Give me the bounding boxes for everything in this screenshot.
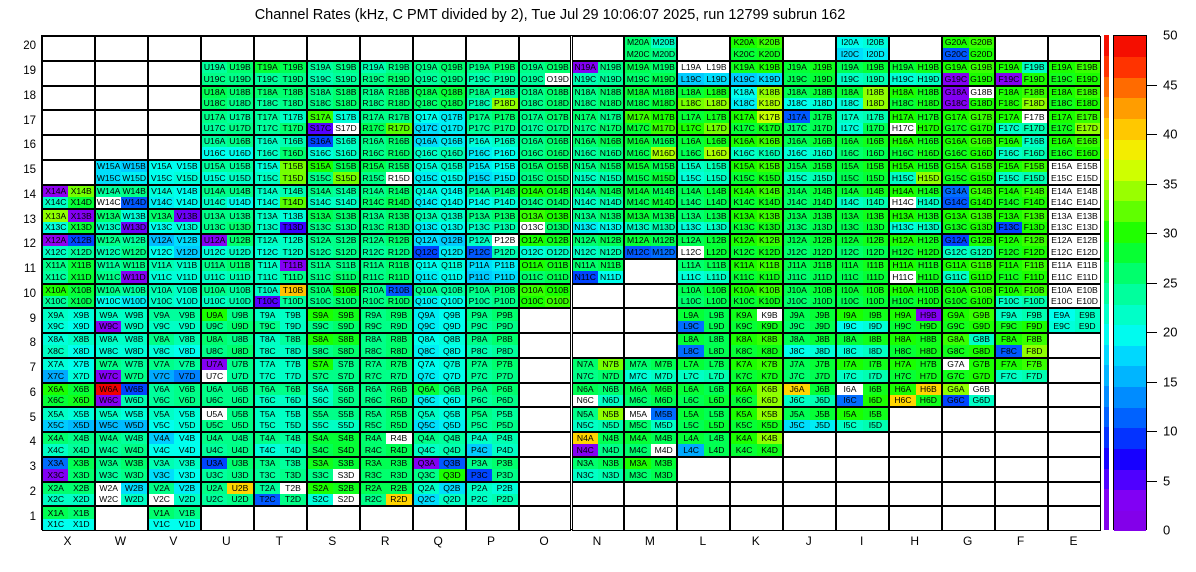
heatmap-channel-L18D[interactable]: L18D	[704, 98, 729, 109]
heatmap-tile-N5[interactable]: N5AN5BN5CN5D	[572, 407, 625, 432]
heatmap-channel-W5D[interactable]: W5D	[121, 420, 146, 431]
heatmap-channel-W13D[interactable]: W13D	[121, 222, 146, 233]
heatmap-tile-M17[interactable]: M17AM17BM17CM17D	[624, 110, 677, 135]
heatmap-channel-L12A[interactable]: L12A	[678, 235, 703, 246]
heatmap-channel-N17A[interactable]: N17A	[573, 111, 598, 122]
heatmap-tile-H5[interactable]	[889, 407, 942, 432]
heatmap-tile-T14[interactable]: T14AT14BT14CT14D	[254, 185, 307, 210]
heatmap-channel-R7D[interactable]: R7D	[386, 370, 411, 381]
heatmap-tile-R11[interactable]: R11AR11BR11CR11D	[360, 259, 413, 284]
heatmap-tile-L20[interactable]	[677, 36, 730, 61]
heatmap-tile-M4[interactable]: M4AM4BM4CM4D	[624, 432, 677, 457]
heatmap-tile-U10[interactable]: U10AU10BU10CU10D	[201, 284, 254, 309]
heatmap-tile-U4[interactable]: U4AU4BU4CU4D	[201, 432, 254, 457]
heatmap-channel-T10A[interactable]: T10A	[255, 285, 280, 296]
heatmap-channel-R6B[interactable]: R6B	[386, 384, 411, 395]
heatmap-channel-Q9D[interactable]: Q9D	[439, 321, 464, 332]
heatmap-tile-R8[interactable]: R8AR8BR8CR8D	[360, 333, 413, 358]
heatmap-channel-J11A[interactable]: J11A	[784, 260, 809, 271]
heatmap-channel-K12B[interactable]: K12B	[757, 235, 782, 246]
heatmap-tile-X3[interactable]: X3AX3BX3CX3D	[42, 457, 95, 482]
heatmap-tile-Q14[interactable]: Q14AQ14BQ14CQ14D	[413, 185, 466, 210]
heatmap-channel-N19B[interactable]: N19B	[598, 62, 623, 73]
heatmap-channel-E13A[interactable]: E13A	[1049, 210, 1074, 221]
heatmap-tile-L18[interactable]: L18AL18BL18CL18D	[677, 86, 730, 111]
heatmap-channel-Q7C[interactable]: Q7C	[414, 370, 439, 381]
heatmap-tile-W1[interactable]	[95, 506, 148, 531]
heatmap-channel-N16D[interactable]: N16D	[598, 147, 623, 158]
heatmap-channel-T15C[interactable]: T15C	[255, 172, 280, 183]
heatmap-channel-U3D[interactable]: U3D	[227, 469, 252, 480]
heatmap-channel-H7A[interactable]: H7A	[890, 359, 915, 370]
heatmap-tile-K20[interactable]: K20AK20BK20CK20D	[730, 36, 783, 61]
heatmap-channel-F14D[interactable]: F14D	[1022, 197, 1047, 208]
heatmap-tile-N8[interactable]	[572, 333, 625, 358]
heatmap-channel-R16A[interactable]: R16A	[361, 136, 386, 147]
heatmap-channel-V4A[interactable]: V4A	[149, 433, 174, 444]
heatmap-channel-Q2A[interactable]: Q2A	[414, 483, 439, 494]
heatmap-tile-W17[interactable]	[95, 110, 148, 135]
heatmap-tile-F12[interactable]: F12AF12BF12CF12D	[995, 234, 1048, 259]
heatmap-channel-R10B[interactable]: R10B	[386, 285, 411, 296]
heatmap-channel-T13B[interactable]: T13B	[280, 210, 305, 221]
heatmap-channel-V7D[interactable]: V7D	[174, 370, 199, 381]
heatmap-tile-F8[interactable]: F8AF8BF8CF8D	[995, 333, 1048, 358]
heatmap-tile-Q11[interactable]: Q11AQ11BQ11CQ11D	[413, 259, 466, 284]
heatmap-channel-V15A[interactable]: V15A	[149, 161, 174, 172]
heatmap-tile-H13[interactable]: H13AH13BH13CH13D	[889, 209, 942, 234]
heatmap-channel-R9C[interactable]: R9C	[361, 321, 386, 332]
heatmap-tile-I15[interactable]: I15AI15BI15CI15D	[836, 160, 889, 185]
heatmap-tile-L2[interactable]	[677, 482, 730, 507]
heatmap-channel-J9B[interactable]: J9B	[810, 309, 835, 320]
heatmap-channel-X7C[interactable]: X7C	[43, 370, 68, 381]
heatmap-channel-O16D[interactable]: O16D	[545, 147, 570, 158]
heatmap-channel-X14A[interactable]: X14A	[43, 186, 68, 197]
heatmap-channel-X7D[interactable]: X7D	[68, 370, 93, 381]
heatmap-tile-T19[interactable]: T19AT19BT19CT19D	[254, 61, 307, 86]
heatmap-channel-U19A[interactable]: U19A	[202, 62, 227, 73]
heatmap-channel-L7D[interactable]: L7D	[704, 370, 729, 381]
heatmap-channel-L4A[interactable]: L4A	[678, 433, 703, 444]
heatmap-tile-J11[interactable]: J11AJ11BJ11CJ11D	[783, 259, 836, 284]
heatmap-channel-N19D[interactable]: N19D	[598, 73, 623, 84]
heatmap-tile-E5[interactable]	[1048, 407, 1101, 432]
heatmap-channel-N11A[interactable]: N11A	[573, 260, 598, 271]
heatmap-channel-T11A[interactable]: T11A	[255, 260, 280, 271]
heatmap-channel-S7C[interactable]: S7C	[308, 370, 333, 381]
heatmap-channel-N19A[interactable]: N19A	[573, 62, 598, 73]
heatmap-tile-Q2[interactable]: Q2AQ2BQ2CQ2D	[413, 482, 466, 507]
heatmap-channel-M15D[interactable]: M15D	[651, 172, 676, 183]
heatmap-tile-M6[interactable]: M6AM6BM6CM6D	[624, 383, 677, 408]
heatmap-channel-X13D[interactable]: X13D	[68, 222, 93, 233]
heatmap-channel-L6B[interactable]: L6B	[704, 384, 729, 395]
heatmap-tile-R13[interactable]: R13AR13BR13CR13D	[360, 209, 413, 234]
heatmap-channel-U15D[interactable]: U15D	[227, 172, 252, 183]
heatmap-tile-G16[interactable]: G16AG16BG16CG16D	[942, 135, 995, 160]
heatmap-channel-P6C[interactable]: P6C	[467, 395, 492, 406]
heatmap-channel-F7C[interactable]: F7C	[996, 370, 1021, 381]
heatmap-tile-P9[interactable]: P9AP9BP9CP9D	[466, 308, 519, 333]
heatmap-channel-V7A[interactable]: V7A	[149, 359, 174, 370]
heatmap-tile-J9[interactable]: J9AJ9BJ9CJ9D	[783, 308, 836, 333]
heatmap-channel-G16B[interactable]: G16B	[969, 136, 994, 147]
heatmap-channel-H16C[interactable]: H16C	[890, 147, 915, 158]
heatmap-channel-R7A[interactable]: R7A	[361, 359, 386, 370]
heatmap-channel-G17C[interactable]: G17C	[943, 123, 968, 134]
heatmap-channel-G20B[interactable]: G20B	[969, 37, 994, 48]
heatmap-channel-S4A[interactable]: S4A	[308, 433, 333, 444]
heatmap-tile-N7[interactable]: N7AN7BN7CN7D	[572, 358, 625, 383]
heatmap-channel-S3D[interactable]: S3D	[333, 469, 358, 480]
heatmap-channel-J11D[interactable]: J11D	[810, 271, 835, 282]
heatmap-channel-S15D[interactable]: S15D	[333, 172, 358, 183]
heatmap-channel-T10B[interactable]: T10B	[280, 285, 305, 296]
heatmap-tile-W14[interactable]: W14AW14BW14CW14D	[95, 185, 148, 210]
heatmap-channel-R7C[interactable]: R7C	[361, 370, 386, 381]
heatmap-channel-X11A[interactable]: X11A	[43, 260, 68, 271]
heatmap-channel-J13C[interactable]: J13C	[784, 222, 809, 233]
heatmap-tile-S5[interactable]: S5AS5BS5CS5D	[307, 407, 360, 432]
heatmap-channel-Q18B[interactable]: Q18B	[439, 87, 464, 98]
heatmap-channel-P14A[interactable]: P14A	[467, 186, 492, 197]
heatmap-channel-S12D[interactable]: S12D	[333, 246, 358, 257]
heatmap-tile-M12[interactable]: M12AM12BM12CM12D	[624, 234, 677, 259]
heatmap-tile-E6[interactable]	[1048, 383, 1101, 408]
heatmap-channel-T7A[interactable]: T7A	[255, 359, 280, 370]
heatmap-channel-M12C[interactable]: M12C	[625, 246, 650, 257]
heatmap-channel-P13B[interactable]: P13B	[492, 210, 517, 221]
heatmap-channel-F8B[interactable]: F8B	[1022, 334, 1047, 345]
heatmap-channel-N15B[interactable]: N15B	[598, 161, 623, 172]
heatmap-tile-H4[interactable]	[889, 432, 942, 457]
heatmap-channel-S19D[interactable]: S19D	[333, 73, 358, 84]
heatmap-tile-J1[interactable]	[783, 506, 836, 531]
heatmap-channel-P7D[interactable]: P7D	[492, 370, 517, 381]
heatmap-tile-R19[interactable]: R19AR19BR19CR19D	[360, 61, 413, 86]
heatmap-channel-J5C[interactable]: J5C	[784, 420, 809, 431]
heatmap-channel-R14C[interactable]: R14C	[361, 197, 386, 208]
heatmap-channel-E12D[interactable]: E12D	[1075, 246, 1100, 257]
heatmap-tile-P7[interactable]: P7AP7BP7CP7D	[466, 358, 519, 383]
heatmap-tile-O20[interactable]	[519, 36, 572, 61]
heatmap-channel-V13B[interactable]: V13B	[174, 210, 199, 221]
heatmap-channel-M14A[interactable]: M14A	[625, 186, 650, 197]
heatmap-channel-N3B[interactable]: N3B	[598, 458, 623, 469]
heatmap-channel-U8C[interactable]: U8C	[202, 345, 227, 356]
heatmap-channel-P8B[interactable]: P8B	[492, 334, 517, 345]
heatmap-channel-E14C[interactable]: E14C	[1049, 197, 1074, 208]
heatmap-channel-K8C[interactable]: K8C	[731, 345, 756, 356]
heatmap-channel-W13B[interactable]: W13B	[121, 210, 146, 221]
heatmap-channel-P11D[interactable]: P11D	[492, 271, 517, 282]
heatmap-channel-S15B[interactable]: S15B	[333, 161, 358, 172]
heatmap-channel-T18A[interactable]: T18A	[255, 87, 280, 98]
heatmap-channel-L8D[interactable]: L8D	[704, 345, 729, 356]
heatmap-channel-M17A[interactable]: M17A	[625, 111, 650, 122]
heatmap-channel-Q12B[interactable]: Q12B	[439, 235, 464, 246]
heatmap-channel-R5D[interactable]: R5D	[386, 420, 411, 431]
heatmap-channel-S18C[interactable]: S18C	[308, 98, 333, 109]
heatmap-tile-Q17[interactable]: Q17AQ17BQ17CQ17D	[413, 110, 466, 135]
heatmap-channel-G14A[interactable]: G14A	[943, 186, 968, 197]
heatmap-channel-F10A[interactable]: F10A	[996, 285, 1021, 296]
heatmap-channel-G6D[interactable]: G6D	[969, 395, 994, 406]
heatmap-channel-F12B[interactable]: F12B	[1022, 235, 1047, 246]
heatmap-channel-Q10B[interactable]: Q10B	[439, 285, 464, 296]
heatmap-channel-J8C[interactable]: J8C	[784, 345, 809, 356]
heatmap-channel-X6B[interactable]: X6B	[68, 384, 93, 395]
heatmap-channel-I9D[interactable]: I9D	[863, 321, 888, 332]
heatmap-channel-R15A[interactable]: R15A	[361, 161, 386, 172]
heatmap-channel-N4B[interactable]: N4B	[598, 433, 623, 444]
heatmap-channel-K12D[interactable]: K12D	[757, 246, 782, 257]
heatmap-channel-G12A[interactable]: G12A	[943, 235, 968, 246]
heatmap-tile-G5[interactable]	[942, 407, 995, 432]
heatmap-channel-H7D[interactable]: H7D	[916, 370, 941, 381]
heatmap-channel-M18C[interactable]: M18C	[625, 98, 650, 109]
heatmap-channel-I15D[interactable]: I15D	[863, 172, 888, 183]
heatmap-channel-T3C[interactable]: T3C	[255, 469, 280, 480]
heatmap-channel-H14B[interactable]: H14B	[916, 186, 941, 197]
heatmap-channel-G11C[interactable]: G11C	[943, 271, 968, 282]
heatmap-channel-M6A[interactable]: M6A	[625, 384, 650, 395]
heatmap-tile-X16[interactable]	[42, 135, 95, 160]
heatmap-channel-Q7B[interactable]: Q7B	[439, 359, 464, 370]
heatmap-channel-I11B[interactable]: I11B	[863, 260, 888, 271]
heatmap-channel-R3A[interactable]: R3A	[361, 458, 386, 469]
heatmap-channel-Q16D[interactable]: Q16D	[439, 147, 464, 158]
heatmap-channel-Q19A[interactable]: Q19A	[414, 62, 439, 73]
heatmap-channel-V10B[interactable]: V10B	[174, 285, 199, 296]
heatmap-channel-S17B[interactable]: S17B	[333, 111, 358, 122]
heatmap-channel-P2D[interactable]: P2D	[492, 494, 517, 505]
heatmap-channel-J6B[interactable]: J6B	[810, 384, 835, 395]
heatmap-channel-H16A[interactable]: H16A	[890, 136, 915, 147]
heatmap-channel-H6B[interactable]: H6B	[916, 384, 941, 395]
heatmap-channel-E14D[interactable]: E14D	[1075, 197, 1100, 208]
heatmap-channel-V15C[interactable]: V15C	[149, 172, 174, 183]
heatmap-channel-T15A[interactable]: T15A	[255, 161, 280, 172]
heatmap-channel-P7C[interactable]: P7C	[467, 370, 492, 381]
heatmap-channel-G6C[interactable]: G6C	[943, 395, 968, 406]
heatmap-channel-K14C[interactable]: K14C	[731, 197, 756, 208]
heatmap-tile-L7[interactable]: L7AL7BL7CL7D	[677, 358, 730, 383]
heatmap-tile-Q13[interactable]: Q13AQ13BQ13CQ13D	[413, 209, 466, 234]
heatmap-channel-U18D[interactable]: U18D	[227, 98, 252, 109]
heatmap-channel-Q4A[interactable]: Q4A	[414, 433, 439, 444]
heatmap-channel-R7B[interactable]: R7B	[386, 359, 411, 370]
heatmap-channel-M3C[interactable]: M3C	[625, 469, 650, 480]
heatmap-tile-H10[interactable]: H10AH10BH10CH10D	[889, 284, 942, 309]
heatmap-channel-S5D[interactable]: S5D	[333, 420, 358, 431]
heatmap-channel-Q16C[interactable]: Q16C	[414, 147, 439, 158]
heatmap-channel-T9C[interactable]: T9C	[255, 321, 280, 332]
heatmap-channel-X6C[interactable]: X6C	[43, 395, 68, 406]
heatmap-channel-R17D[interactable]: R17D	[386, 123, 411, 134]
heatmap-tile-M11[interactable]	[624, 259, 677, 284]
heatmap-channel-I15B[interactable]: I15B	[863, 161, 888, 172]
heatmap-channel-P5D[interactable]: P5D	[492, 420, 517, 431]
heatmap-channel-P11C[interactable]: P11C	[467, 271, 492, 282]
heatmap-channel-T10D[interactable]: T10D	[280, 296, 305, 307]
heatmap-tile-E13[interactable]: E13AE13BE13CE13D	[1048, 209, 1101, 234]
heatmap-tile-M15[interactable]: M15AM15BM15CM15D	[624, 160, 677, 185]
heatmap-channel-F17A[interactable]: F17A	[996, 111, 1021, 122]
heatmap-tile-J10[interactable]: J10AJ10BJ10CJ10D	[783, 284, 836, 309]
heatmap-channel-G10A[interactable]: G10A	[943, 285, 968, 296]
heatmap-channel-S16A[interactable]: S16A	[308, 136, 333, 147]
heatmap-tile-M2[interactable]	[624, 482, 677, 507]
heatmap-channel-G13B[interactable]: G13B	[969, 210, 994, 221]
heatmap-channel-L9A[interactable]: L9A	[678, 309, 703, 320]
heatmap-channel-S15A[interactable]: S15A	[308, 161, 333, 172]
heatmap-channel-W10B[interactable]: W10B	[121, 285, 146, 296]
heatmap-channel-X9A[interactable]: X9A	[43, 309, 68, 320]
heatmap-channel-N18B[interactable]: N18B	[598, 87, 623, 98]
heatmap-tile-L14[interactable]: L14AL14BL14CL14D	[677, 185, 730, 210]
heatmap-channel-T3B[interactable]: T3B	[280, 458, 305, 469]
heatmap-channel-T19A[interactable]: T19A	[255, 62, 280, 73]
heatmap-channel-L15A[interactable]: L15A	[678, 161, 703, 172]
heatmap-channel-R2B[interactable]: R2B	[386, 483, 411, 494]
heatmap-channel-N3A[interactable]: N3A	[573, 458, 598, 469]
heatmap-channel-L5D[interactable]: L5D	[704, 420, 729, 431]
heatmap-channel-J10B[interactable]: J10B	[810, 285, 835, 296]
heatmap-channel-K7A[interactable]: K7A	[731, 359, 756, 370]
heatmap-tile-I11[interactable]: I11AI11BI11CI11D	[836, 259, 889, 284]
heatmap-channel-Q11C[interactable]: Q11C	[414, 271, 439, 282]
heatmap-channel-P3B[interactable]: P3B	[492, 458, 517, 469]
heatmap-channel-S6B[interactable]: S6B	[333, 384, 358, 395]
heatmap-channel-K16D[interactable]: K16D	[757, 147, 782, 158]
heatmap-channel-L11D[interactable]: L11D	[704, 271, 729, 282]
heatmap-channel-W15A[interactable]: W15A	[96, 161, 121, 172]
heatmap-channel-L7A[interactable]: L7A	[678, 359, 703, 370]
heatmap-channel-L14B[interactable]: L14B	[704, 186, 729, 197]
heatmap-tile-E8[interactable]	[1048, 333, 1101, 358]
heatmap-channel-P12A[interactable]: P12A	[467, 235, 492, 246]
heatmap-tile-V7[interactable]: V7AV7BV7CV7D	[148, 358, 201, 383]
heatmap-channel-U19C[interactable]: U19C	[202, 73, 227, 84]
heatmap-channel-E10D[interactable]: E10D	[1075, 296, 1100, 307]
heatmap-tile-G12[interactable]: G12AG12BG12CG12D	[942, 234, 995, 259]
heatmap-channel-L19C[interactable]: L19C	[678, 73, 703, 84]
heatmap-channel-T12D[interactable]: T12D	[280, 246, 305, 257]
heatmap-tile-N4[interactable]: N4AN4BN4CN4D	[572, 432, 625, 457]
heatmap-tile-I4[interactable]	[836, 432, 889, 457]
heatmap-channel-H9B[interactable]: H9B	[916, 309, 941, 320]
heatmap-channel-V8D[interactable]: V8D	[174, 345, 199, 356]
heatmap-channel-H6A[interactable]: H6A	[890, 384, 915, 395]
heatmap-channel-X7B[interactable]: X7B	[68, 359, 93, 370]
heatmap-tile-G10[interactable]: G10AG10BG10CG10D	[942, 284, 995, 309]
heatmap-channel-U3C[interactable]: U3C	[202, 469, 227, 480]
heatmap-channel-K14A[interactable]: K14A	[731, 186, 756, 197]
heatmap-channel-K18B[interactable]: K18B	[757, 87, 782, 98]
heatmap-channel-V3B[interactable]: V3B	[174, 458, 199, 469]
heatmap-channel-Q14A[interactable]: Q14A	[414, 186, 439, 197]
heatmap-channel-R3B[interactable]: R3B	[386, 458, 411, 469]
heatmap-channel-J5A[interactable]: J5A	[784, 408, 809, 419]
heatmap-channel-R4B[interactable]: R4B	[386, 433, 411, 444]
heatmap-channel-W10D[interactable]: W10D	[121, 296, 146, 307]
heatmap-tile-H9[interactable]: H9AH9BH9CH9D	[889, 308, 942, 333]
heatmap-channel-J14A[interactable]: J14A	[784, 186, 809, 197]
heatmap-tile-V4[interactable]: V4AV4BV4CV4D	[148, 432, 201, 457]
heatmap-tile-P16[interactable]: P16AP16BP16CP16D	[466, 135, 519, 160]
heatmap-channel-U10B[interactable]: U10B	[227, 285, 252, 296]
heatmap-channel-I10D[interactable]: I10D	[863, 296, 888, 307]
heatmap-channel-F10D[interactable]: F10D	[1022, 296, 1047, 307]
heatmap-tile-P15[interactable]: P15AP15BP15CP15D	[466, 160, 519, 185]
heatmap-channel-P17C[interactable]: P17C	[467, 123, 492, 134]
heatmap-channel-F14B[interactable]: F14B	[1022, 186, 1047, 197]
heatmap-tile-U2[interactable]: U2AU2BU2CU2D	[201, 482, 254, 507]
heatmap-channel-F19B[interactable]: F19B	[1022, 62, 1047, 73]
heatmap-channel-M18B[interactable]: M18B	[651, 87, 676, 98]
heatmap-channel-T5A[interactable]: T5A	[255, 408, 280, 419]
heatmap-channel-M3B[interactable]: M3B	[651, 458, 676, 469]
heatmap-channel-K16C[interactable]: K16C	[731, 147, 756, 158]
heatmap-channel-K13D[interactable]: K13D	[757, 222, 782, 233]
heatmap-channel-W10C[interactable]: W10C	[96, 296, 121, 307]
heatmap-tile-I3[interactable]	[836, 457, 889, 482]
heatmap-channel-P16D[interactable]: P16D	[492, 147, 517, 158]
heatmap-channel-K8A[interactable]: K8A	[731, 334, 756, 345]
heatmap-channel-G13D[interactable]: G13D	[969, 222, 994, 233]
heatmap-channel-H10C[interactable]: H10C	[890, 296, 915, 307]
heatmap-channel-H15C[interactable]: H15C	[890, 172, 915, 183]
heatmap-tile-X18[interactable]	[42, 86, 95, 111]
heatmap-channel-I8B[interactable]: I8B	[863, 334, 888, 345]
heatmap-channel-V12A[interactable]: V12A	[149, 235, 174, 246]
heatmap-tile-S16[interactable]: S16AS16BS16CS16D	[307, 135, 360, 160]
heatmap-channel-M5C[interactable]: M5C	[625, 420, 650, 431]
heatmap-channel-N17B[interactable]: N17B	[598, 111, 623, 122]
heatmap-channel-Q10D[interactable]: Q10D	[439, 296, 464, 307]
heatmap-channel-K9C[interactable]: K9C	[731, 321, 756, 332]
heatmap-tile-G7[interactable]: G7AG7BG7CG7D	[942, 358, 995, 383]
heatmap-channel-F11B[interactable]: F11B	[1022, 260, 1047, 271]
heatmap-channel-M3D[interactable]: M3D	[651, 469, 676, 480]
heatmap-tile-K13[interactable]: K13AK13BK13CK13D	[730, 209, 783, 234]
heatmap-channel-X4A[interactable]: X4A	[43, 433, 68, 444]
heatmap-tile-U1[interactable]	[201, 506, 254, 531]
heatmap-tile-E15[interactable]: E15AE15BE15CE15D	[1048, 160, 1101, 185]
heatmap-channel-O14C[interactable]: O14C	[520, 197, 545, 208]
heatmap-channel-P2C[interactable]: P2C	[467, 494, 492, 505]
heatmap-channel-Q9A[interactable]: Q9A	[414, 309, 439, 320]
heatmap-tile-E16[interactable]: E16AE16BE16CE16D	[1048, 135, 1101, 160]
heatmap-channel-M14B[interactable]: M14B	[651, 186, 676, 197]
heatmap-channel-G14D[interactable]: G14D	[969, 197, 994, 208]
heatmap-channel-V11A[interactable]: V11A	[149, 260, 174, 271]
heatmap-channel-H18B[interactable]: H18B	[916, 87, 941, 98]
heatmap-channel-T8A[interactable]: T8A	[255, 334, 280, 345]
heatmap-channel-W7D[interactable]: W7D	[121, 370, 146, 381]
heatmap-channel-P17A[interactable]: P17A	[467, 111, 492, 122]
heatmap-tile-N1[interactable]	[572, 506, 625, 531]
heatmap-tile-O16[interactable]: O16AO16BO16CO16D	[519, 135, 572, 160]
heatmap-channel-S14B[interactable]: S14B	[333, 186, 358, 197]
heatmap-channel-K10C[interactable]: K10C	[731, 296, 756, 307]
heatmap-channel-S8C[interactable]: S8C	[308, 345, 333, 356]
heatmap-channel-L15B[interactable]: L15B	[704, 161, 729, 172]
heatmap-channel-U4D[interactable]: U4D	[227, 444, 252, 455]
heatmap-channel-T2B[interactable]: T2B	[280, 483, 305, 494]
